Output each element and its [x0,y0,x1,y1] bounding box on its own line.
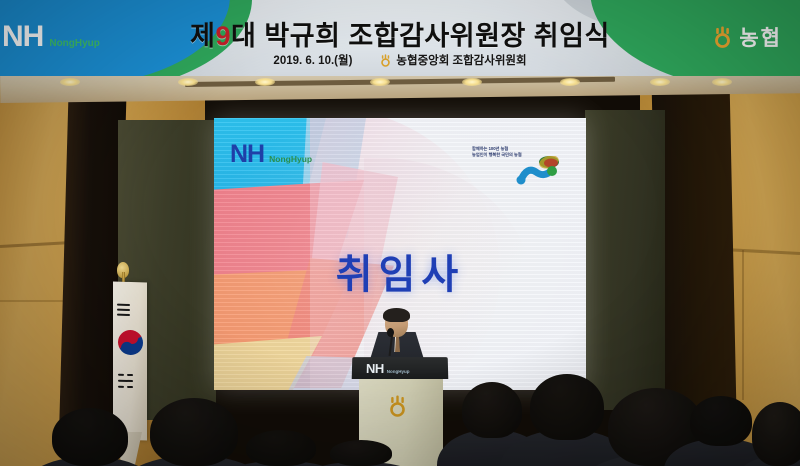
audience-hair [530,374,604,440]
slide-headline: 취임사 [214,242,586,300]
left-wall-seam-lower [0,300,70,302]
banner-organizer: 농협중앙회 조합감사위원회 [380,52,526,68]
slide-logo-tagline: 함께하는 100년 농협 농업인이 행복한 국민의 농협 [472,146,522,158]
audience-head-3 [246,430,316,466]
audience-head-8 [690,396,752,446]
banner-title: 제9대 박규희 조합감사위원장 취임식 [0,14,800,53]
slide-nh-subtext: NongHyup [269,154,312,164]
speaker-person [366,310,428,362]
banner-event-date: 2019. 6. 10.(월) [273,52,352,68]
audience-hair [462,382,522,438]
trigram-bar [118,374,124,376]
nh-gold-emblem-icon [388,395,407,417]
audience-hair [752,402,800,466]
podium-top-panel: NH NongHyup [352,357,449,379]
banner-nonghyup-logo-right: 농협 [713,22,782,52]
audience-hair [330,440,392,466]
audience-hair [150,398,238,466]
slide-logo-blob-icon [516,156,562,186]
audience-head-6 [530,374,604,440]
banner-title-prefix: 제 [190,21,215,51]
right-acoustic-panel [585,110,665,410]
taeguk-blue-lobe [121,342,133,354]
trigram-bar [117,304,130,307]
banner-nonghyup-label: 농협 [739,22,782,52]
banner-subtitle-row: 2019. 6. 10.(월) 농협중앙회 조합감사위원회 [0,52,800,68]
audience-head-9 [752,402,800,466]
trigram-bar [117,314,130,317]
right-wall-seam-vertical [742,250,744,400]
trigram-bar [117,309,130,312]
podium-nh-subtext: NongHyup [387,369,410,374]
banner-title-rest: 대 박규희 조합감사위원장 취임식 [231,21,610,51]
slide-nh-wordmark: NH [230,140,264,169]
banner-title-highlight: 9 [216,21,232,51]
audience-head-2 [150,398,238,466]
slide-logo-tagline-line2: 농업인이 행복한 국민의 농협 [472,152,522,158]
conference-hall-photo: NH NongHyup 함께하는 100년 농협 농업인이 행복한 국민의 농협 [0,0,800,466]
banner-organizer-label: 농협중앙회 조합감사위원회 [396,52,526,68]
audience-head-4 [330,440,392,466]
podium-nh-logo: NH NongHyup [366,361,410,376]
nh-gold-emblem-icon [380,54,391,67]
audience-head-1 [52,408,128,466]
audience-hair [52,408,128,466]
slide-corporate-logo: 함께하는 100년 농협 농업인이 행복한 국민의 농협 [472,140,568,190]
event-banner: NH NongHyup 제9대 박규희 조합감사위원장 취임식 2019. 6.… [0,0,800,76]
speaker-hair [383,308,410,322]
podium-nh-wordmark: NH [366,361,384,376]
trigram-bar [118,380,133,383]
trigram-bar [127,386,133,388]
audience-head-5 [462,382,522,438]
audience-hair [246,430,316,466]
slide-nh-logo: NH NongHyup [230,140,312,169]
trigram-bar [127,374,133,376]
trigram-bar [118,386,124,388]
nh-gold-emblem-icon [713,26,732,48]
microphone-icon [387,328,394,337]
audience-hair [690,396,752,446]
